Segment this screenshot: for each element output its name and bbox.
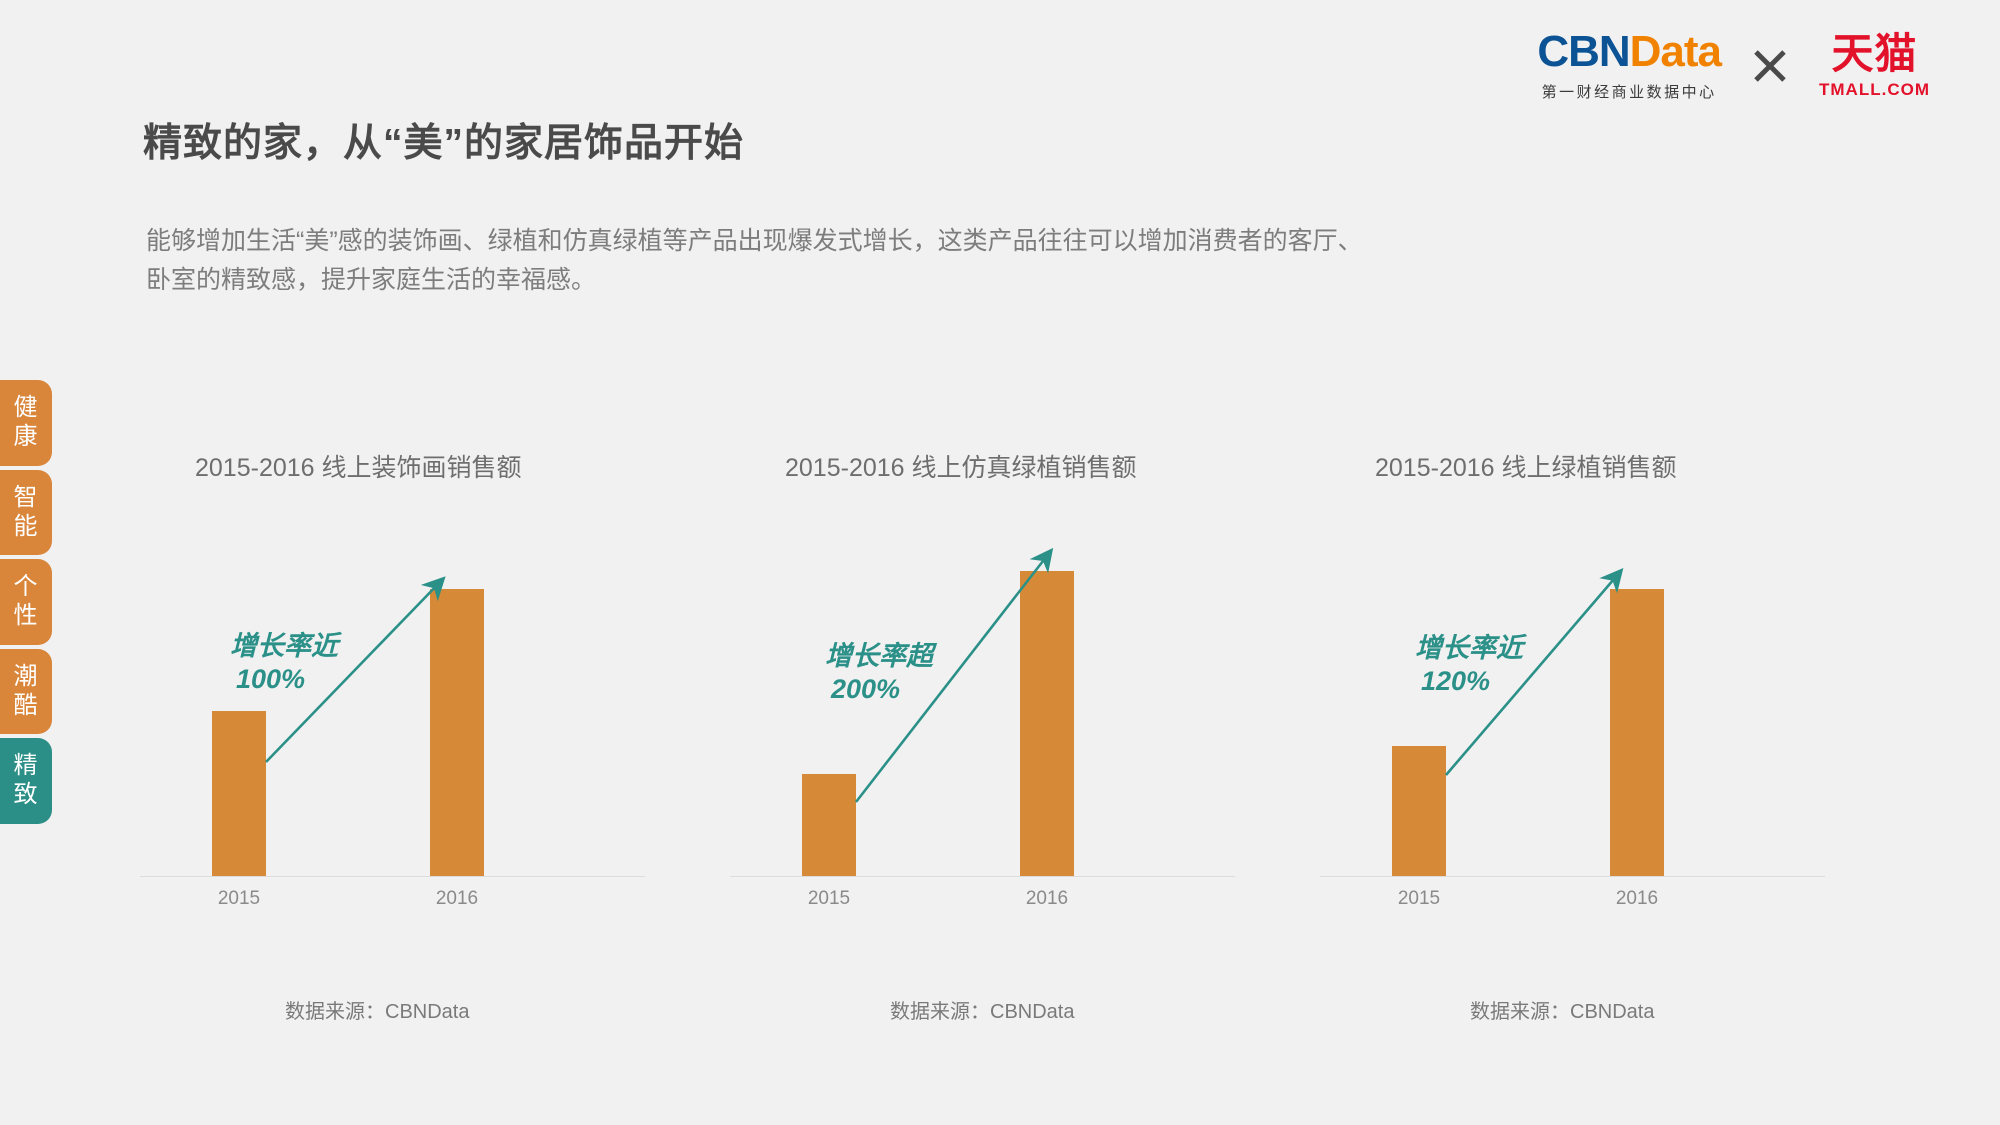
cbndata-wordmark-data: Data: [1630, 27, 1721, 76]
bar-2016: [430, 589, 484, 876]
slide-canvas: CBNData 第一财经商业数据中心 天猫 TMALL.COM 精致的家，从“美…: [0, 0, 2000, 1125]
page-subtitle: 能够增加生活“美”感的装饰画、绿植和仿真绿植等产品出现爆发式增长，这类产品往往可…: [146, 222, 1826, 300]
chart-decorative-paintings: 2015-2016 线上装饰画销售额 增长率近 100% 2015 2016: [140, 440, 660, 1060]
chart-title: 2015-2016 线上装饰画销售额: [195, 448, 522, 484]
x-tick-2015: 2015: [1359, 888, 1479, 910]
bar-2016: [1020, 571, 1074, 876]
tmall-subtitle: TMALL.COM: [1819, 80, 1930, 100]
tmall-logo: 天猫 TMALL.COM: [1819, 33, 1930, 100]
chart-artificial-plants: 2015-2016 线上仿真绿植销售额 增长率超 200% 2015 2016: [730, 440, 1250, 1060]
chart-title: 2015-2016 线上仿真绿植销售额: [785, 448, 1137, 484]
growth-annotation-text: 增长率近: [230, 631, 338, 661]
tmall-wordmark: 天猫: [1832, 33, 1918, 75]
multiply-icon: [1751, 47, 1789, 85]
growth-annotation-value: 100%: [230, 663, 338, 696]
page-subtitle-line1: 能够增加生活“美”感的装饰画、绿植和仿真绿植等产品出现爆发式增长，这类产品往往可…: [146, 222, 1826, 261]
chart-plot-area: [140, 540, 645, 877]
x-tick-2015: 2015: [769, 888, 889, 910]
chart-title: 2015-2016 线上绿植销售额: [1375, 448, 1677, 484]
chart-plot-area: [1320, 540, 1825, 877]
sidebar-item-health-char1: 健: [0, 393, 52, 422]
chart-source: 数据来源：CBNData: [285, 995, 469, 1024]
growth-annotation-text: 增长率超: [825, 641, 933, 671]
cbndata-logo: CBNData 第一财经商业数据中心: [1537, 30, 1721, 102]
x-tick-2015: 2015: [179, 888, 299, 910]
chart-plot-area: [730, 540, 1235, 877]
x-axis-line: [730, 876, 1235, 877]
charts-row: 2015-2016 线上装饰画销售额 增长率近 100% 2015 2016: [0, 440, 2000, 1060]
growth-annotation-text: 增长率近: [1415, 633, 1523, 663]
bar-2015: [212, 711, 266, 876]
growth-annotation: 增长率近 100%: [230, 630, 338, 696]
bar-2015: [802, 774, 856, 876]
growth-annotation-value: 120%: [1415, 665, 1523, 698]
cbndata-wordmark-cbn: CBN: [1537, 27, 1629, 76]
bar-2015: [1392, 746, 1446, 876]
chart-source: 数据来源：CBNData: [890, 995, 1074, 1024]
x-tick-2016: 2016: [987, 888, 1107, 910]
bar-2016: [1610, 589, 1664, 876]
chart-green-plants: 2015-2016 线上绿植销售额 增长率近 120% 2015 2016: [1320, 440, 1840, 1060]
x-axis-line: [1320, 876, 1825, 877]
cbndata-subtitle: 第一财经商业数据中心: [1542, 81, 1717, 102]
cbndata-wordmark: CBNData: [1537, 30, 1721, 74]
growth-annotation: 增长率超 200%: [825, 640, 933, 706]
page-title: 精致的家，从“美”的家居饰品开始: [143, 112, 744, 168]
x-tick-2016: 2016: [1577, 888, 1697, 910]
x-tick-2016: 2016: [397, 888, 517, 910]
x-axis-line: [140, 876, 645, 877]
growth-annotation: 增长率近 120%: [1415, 632, 1523, 698]
brand-logo-group: CBNData 第一财经商业数据中心 天猫 TMALL.COM: [1537, 30, 1930, 102]
page-subtitle-line2: 卧室的精致感，提升家庭生活的幸福感。: [146, 261, 1826, 300]
chart-source: 数据来源：CBNData: [1470, 995, 1654, 1024]
growth-annotation-value: 200%: [825, 673, 933, 706]
